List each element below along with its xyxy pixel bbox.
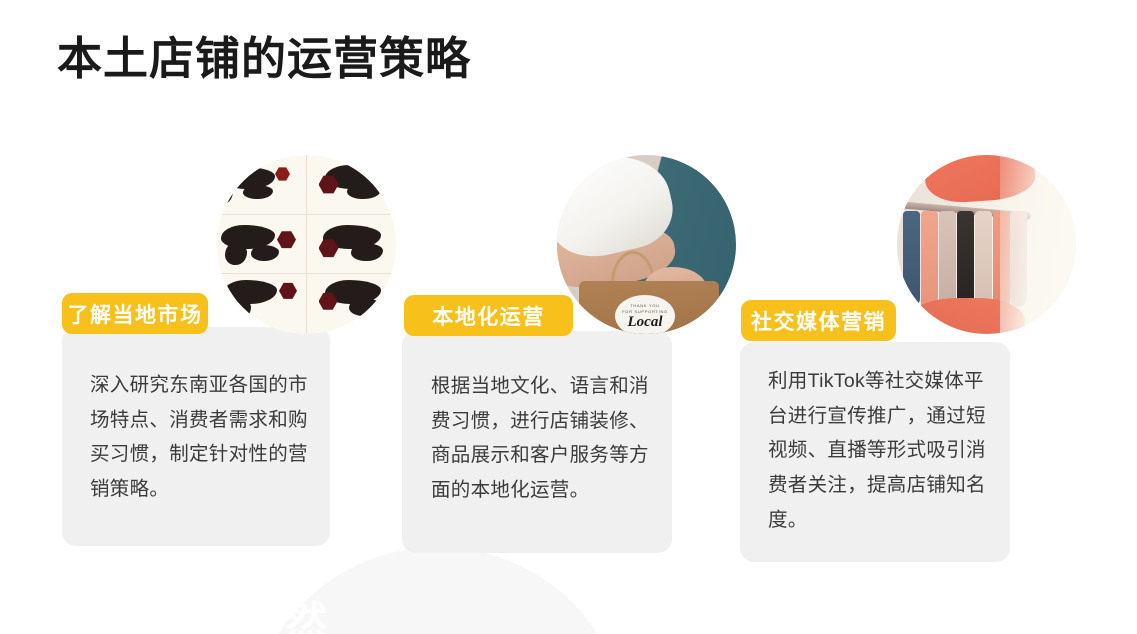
badge-market[interactable]: 了解当地市场 [62,293,208,334]
card-body-text: 深入研究东南亚各国的市场特点、消费者需求和购买习惯，制定针对性的营销策略。 [90,368,308,507]
badge-local[interactable]: 本地化运营 [404,295,573,336]
local-shopping-bag-photo: Thank you for supporting Local [557,155,736,334]
map-landmass [227,298,251,320]
map-marker-icon [279,282,297,299]
sticker-line-2: for supporting [622,309,668,314]
card-market: 深入研究东南亚各国的市场特点、消费者需求和购买习惯，制定针对性的营销策略。 [62,327,330,546]
map-landmass [225,243,247,265]
map-landmass [351,243,383,261]
map-landmass [219,181,233,203]
badge-social[interactable]: 社交媒体营销 [741,300,896,341]
wall-highlight [1000,155,1076,334]
map-marker-icon [277,231,296,249]
garment-shape [939,211,956,311]
card-body-text: 根据当地文化、语言和消费习惯，进行店铺装修、商品展示和客户服务等方面的本地化运营… [431,369,653,508]
photo-background: Thank you for supporting Local [557,155,736,334]
watermark-text: 然 [285,588,328,634]
map-marker-icon [275,167,290,181]
map-cell [217,155,307,215]
world-map-grid-photo [217,155,396,334]
sticker-line-1: Thank you [630,303,660,308]
card-local: 根据当地文化、语言和消费习惯，进行店铺装修、商品展示和客户服务等方面的本地化运营… [402,331,672,553]
clothing-rack-photo [897,155,1076,334]
garment-shape [975,211,992,309]
card-social: 利用TikTok等社交媒体平台进行宣传推广，通过短视频、直播等形式吸引消费者关注… [740,342,1010,562]
garment-shape [903,211,920,307]
map-cell [217,215,307,275]
page-title: 本土店铺的运营策略 [57,33,471,85]
map-cell [307,215,397,275]
photo-background [217,155,396,334]
map-landmass [347,183,381,199]
map-landmass [243,185,273,199]
photo-background [897,155,1076,334]
map-cell [307,155,397,215]
map-landmass [349,298,381,316]
sticker-word: Local [628,315,663,330]
map-cell [217,274,307,334]
map-cell [307,274,397,334]
card-body-text: 利用TikTok等社交媒体平台进行宣传推广，通过短视频、直播等形式吸引消费者关注… [768,364,992,538]
slide-canvas: 然 本土店铺的运营策略 [0,0,1137,634]
map-landmass [251,245,279,261]
local-sticker: Thank you for supporting Local [615,295,675,334]
map-grid [217,155,396,334]
